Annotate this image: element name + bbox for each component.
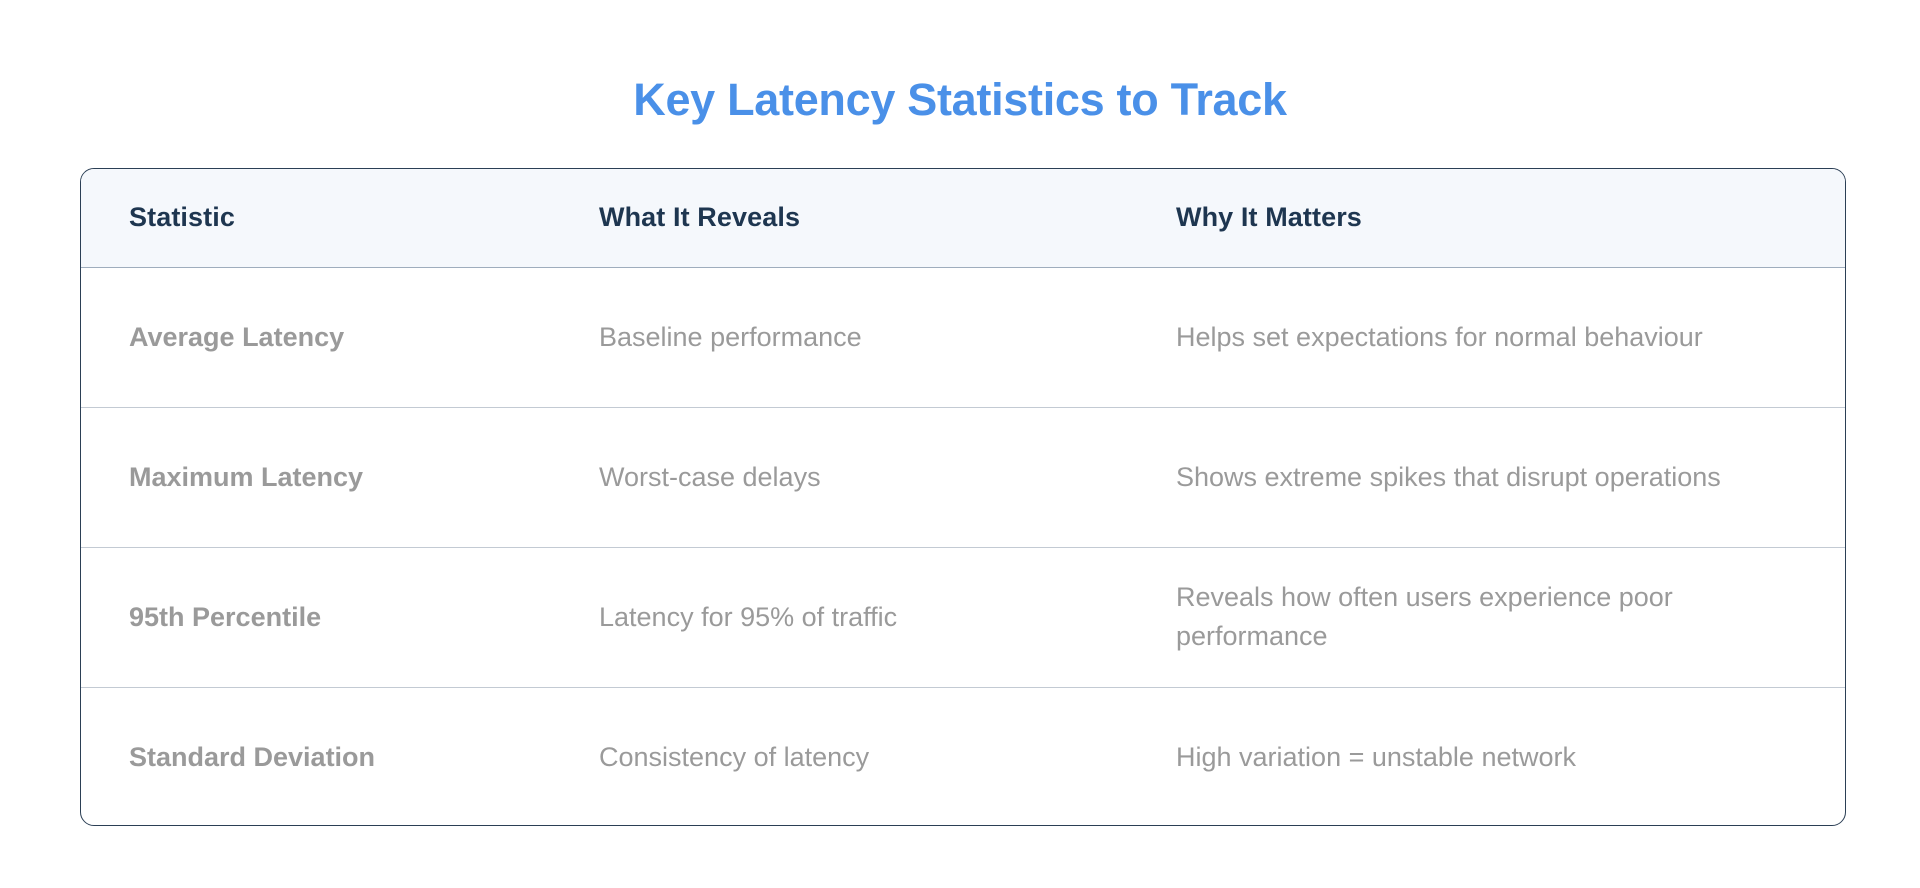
table-row: 95th Percentile Latency for 95% of traff…	[81, 547, 1845, 687]
column-header-why-it-matters: Why It Matters	[1128, 169, 1845, 267]
cell-what-it-reveals: Baseline performance	[551, 267, 1128, 407]
table-body: Average Latency Baseline performance Hel…	[81, 267, 1845, 826]
cell-why-it-matters: Shows extreme spikes that disrupt operat…	[1128, 407, 1845, 547]
cell-what-it-reveals: Consistency of latency	[551, 687, 1128, 826]
page-root: Key Latency Statistics to Track Statisti…	[0, 0, 1920, 888]
cell-statistic: Average Latency	[81, 267, 551, 407]
cell-why-it-matters: Helps set expectations for normal behavi…	[1128, 267, 1845, 407]
cell-statistic: 95th Percentile	[81, 547, 551, 687]
cell-statistic: Standard Deviation	[81, 687, 551, 826]
cell-what-it-reveals: Worst-case delays	[551, 407, 1128, 547]
column-header-statistic: Statistic	[81, 169, 551, 267]
cell-what-it-reveals: Latency for 95% of traffic	[551, 547, 1128, 687]
column-header-what-it-reveals: What It Reveals	[551, 169, 1128, 267]
table-row: Standard Deviation Consistency of latenc…	[81, 687, 1845, 826]
table-header: Statistic What It Reveals Why It Matters	[81, 169, 1845, 267]
cell-why-it-matters: Reveals how often users experience poor …	[1128, 547, 1845, 687]
latency-statistics-table: Statistic What It Reveals Why It Matters…	[81, 169, 1845, 826]
cell-why-it-matters: High variation = unstable network	[1128, 687, 1845, 826]
page-title: Key Latency Statistics to Track	[0, 70, 1920, 130]
table-row: Average Latency Baseline performance Hel…	[81, 267, 1845, 407]
table-header-row: Statistic What It Reveals Why It Matters	[81, 169, 1845, 267]
cell-statistic: Maximum Latency	[81, 407, 551, 547]
stats-table-card: Statistic What It Reveals Why It Matters…	[80, 168, 1846, 826]
table-row: Maximum Latency Worst-case delays Shows …	[81, 407, 1845, 547]
